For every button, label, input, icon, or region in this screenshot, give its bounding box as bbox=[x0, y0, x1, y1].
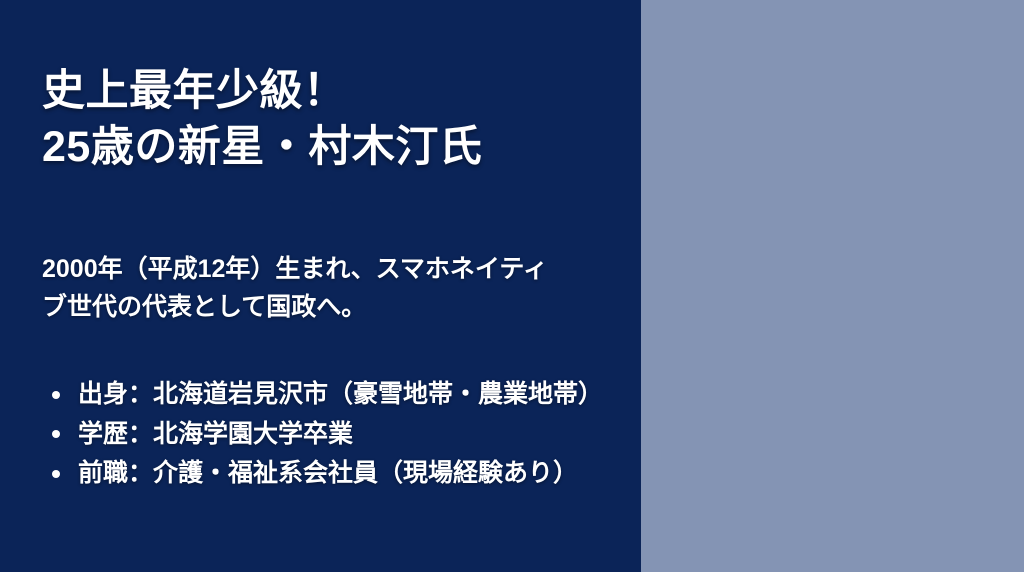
lead-line-2: ブ世代の代表として国政へ。 bbox=[42, 288, 612, 326]
list-item: 前職：介護・福祉系会社員（現場経験あり） bbox=[46, 454, 636, 494]
lead-line-1: 2000年（平成12年）生まれ、スマホネイティ bbox=[42, 250, 612, 288]
slide-root: 史上最年少級！ 25歳の新星・村木汀氏 2000年（平成12年）生まれ、スマホネ… bbox=[0, 0, 1024, 572]
bullet-dot-icon bbox=[52, 391, 60, 399]
page-title-line-1: 史上最年少級！ bbox=[42, 64, 622, 120]
right-panel: 生年月日: 2000年2月14日（25歳） bbox=[641, 0, 1024, 572]
list-item: 学歴：北海学園大学卒業 bbox=[46, 415, 636, 455]
bullet-dot-icon bbox=[52, 470, 60, 478]
lead-paragraph: 2000年（平成12年）生まれ、スマホネイティ ブ世代の代表として国政へ。 bbox=[42, 250, 612, 326]
left-content-panel: 史上最年少級！ 25歳の新星・村木汀氏 2000年（平成12年）生まれ、スマホネ… bbox=[0, 0, 641, 572]
bullet-text: 出身：北海道岩見沢市（豪雪地帯・農業地帯） bbox=[78, 380, 603, 408]
page-title-line-2: 25歳の新星・村木汀氏 bbox=[42, 120, 622, 176]
bullet-text: 学歴：北海学園大学卒業 bbox=[78, 420, 353, 448]
bullet-dot-icon bbox=[52, 430, 60, 438]
list-item: 出身：北海道岩見沢市（豪雪地帯・農業地帯） bbox=[46, 375, 636, 415]
profile-bullet-list: 出身：北海道岩見沢市（豪雪地帯・農業地帯） 学歴：北海学園大学卒業 前職：介護・… bbox=[46, 375, 636, 494]
bullet-text: 前職：介護・福祉系会社員（現場経験あり） bbox=[78, 459, 578, 487]
page-title: 史上最年少級！ 25歳の新星・村木汀氏 bbox=[42, 64, 622, 176]
